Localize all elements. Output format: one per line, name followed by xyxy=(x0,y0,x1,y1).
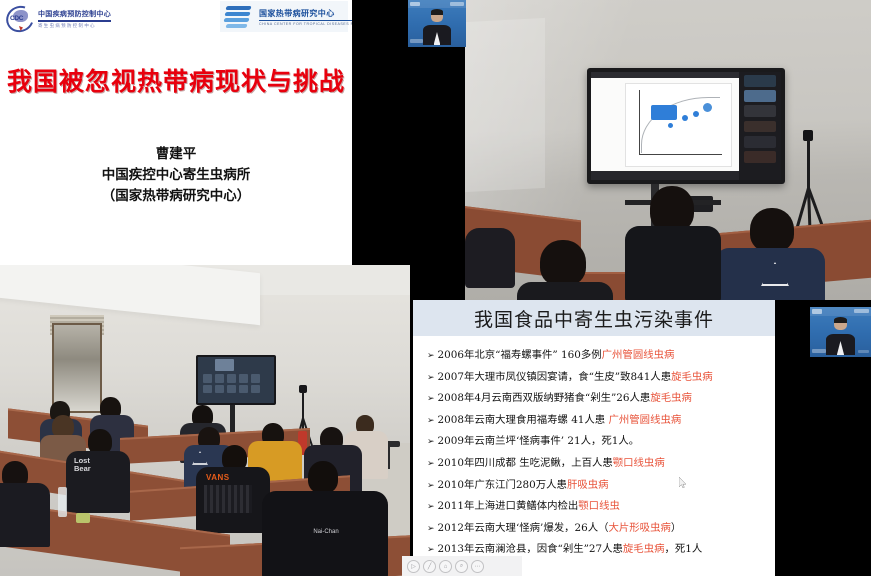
bullet-text: 2008年4月云南西双版纳野猪食“剁生”26人患旋毛虫病 xyxy=(438,388,692,409)
participant-video-top[interactable] xyxy=(408,0,466,47)
presenter-affiliation-2: （国家热带病研究中心） xyxy=(0,186,352,207)
tropical-disease-center-logo: 国家热带病研究中心 CHINA CENTER FOR TROPICAL DISE… xyxy=(220,1,348,32)
bullet-text: 2010年广东江门280万人患肝吸虫病 xyxy=(438,475,609,496)
jacket-text: LostBear xyxy=(74,457,91,473)
plain-text: 2010年广东江门280万人患 xyxy=(438,479,567,491)
highlighted-term: 肝吸虫病 xyxy=(567,479,609,491)
slide-title: 我国被忽视热带病现状与挑战 xyxy=(0,62,352,98)
content-slide: 我国食品中寄生虫污染事件 ➢2006年北京“福寿螺事件” 160多例广州管圆线虫… xyxy=(413,300,775,576)
logo-divider xyxy=(38,20,111,22)
attendee-body xyxy=(625,226,721,300)
displayed-chart xyxy=(625,83,731,167)
classroom-display xyxy=(587,68,785,184)
highlighted-term: 旋毛虫病 xyxy=(623,543,665,555)
participant-video-bottom[interactable] xyxy=(810,307,871,357)
content-bullet-item: ➢2007年大理市凤仪镇因宴请，食“生皮”致841人患旋毛虫病 xyxy=(427,367,775,389)
content-bullet-list: ➢2006年北京“福寿螺事件” 160多例广州管圆线虫病➢2007年大理市凤仪镇… xyxy=(413,336,775,576)
content-bullet-item: ➢2009年云南兰坪‘怪病事件’ 21人，死1人。 xyxy=(427,431,775,453)
plain-text: 2012年云南大理‘怪病’爆发，26人（ xyxy=(438,522,609,534)
classroom-audience-photo: LostBear VANS Nai-Chan xyxy=(0,265,410,576)
content-slide-header: 我国食品中寄生虫污染事件 xyxy=(413,300,775,336)
presenter-name: 曹建平 xyxy=(0,144,352,165)
content-bullet-item: ➢2010年四川成都 生吃泥鳅，上百人患颚口线虫病 xyxy=(427,453,775,475)
attendee-head xyxy=(308,461,338,493)
presenter-affiliation-1: 中国疾控中心寄生虫病所 xyxy=(0,165,352,186)
plain-text: ，死1人 xyxy=(664,543,702,555)
screen-share-stage: CDC 中国疾病预防控制中心 寄生虫病预防控制中心 国家热带病研究中心 CHIN… xyxy=(0,0,871,576)
bullet-arrow-icon: ➢ xyxy=(427,476,435,497)
highlighted-term: 颚口线虫病 xyxy=(613,457,665,469)
content-bullet-item: ➢2008年4月云南西双版纳野猪食“剁生”26人患旋毛虫病 xyxy=(427,388,775,410)
plain-text: ） xyxy=(671,522,681,534)
bullet-arrow-icon: ➢ xyxy=(427,411,435,432)
classroom-display xyxy=(196,355,276,405)
video-name-tag xyxy=(812,349,825,354)
slide-presenter-block: 曹建平 中国疾控中心寄生虫病所 （国家热带病研究中心） xyxy=(0,144,352,207)
video-overlay-logo-right-icon xyxy=(450,2,464,6)
video-overlay-logo-right-icon xyxy=(854,309,869,313)
video-overlay-logo-left-icon xyxy=(410,2,419,6)
cdc-acronym: CDC xyxy=(10,15,23,22)
highlighted-term: 大片形吸虫病 xyxy=(609,522,671,534)
content-bullet-item: ➢2011年上海进口黄鳝体内检出颚口线虫 xyxy=(427,496,775,518)
logo-divider xyxy=(259,20,352,21)
content-slide-title: 我国食品中寄生虫污染事件 xyxy=(474,305,714,332)
plain-text: 2007年大理市凤仪镇因宴请，食“生皮”致841人患 xyxy=(438,371,672,383)
tropical-center-name-cn: 国家热带病研究中心 xyxy=(259,8,352,19)
china-cdc-emblem-icon: CDC xyxy=(6,6,34,32)
content-bullet-item: ➢2006年北京“福寿螺事件” 160多例广州管圆线虫病 xyxy=(427,345,775,367)
bullet-arrow-icon: ➢ xyxy=(427,346,435,367)
bullet-arrow-icon: ➢ xyxy=(427,497,435,518)
china-cdc-name-sub: 寄生虫病预防控制中心 xyxy=(38,23,111,29)
bullet-text: 2009年云南兰坪‘怪病事件’ 21人，死1人。 xyxy=(438,431,640,452)
bullet-arrow-icon: ➢ xyxy=(427,454,435,475)
bullet-arrow-icon: ➢ xyxy=(427,519,435,540)
display-content xyxy=(591,72,781,180)
annotation-toolbar[interactable]: ▷╱⌂⌕⋯ xyxy=(407,559,484,574)
highlighted-term: 旋毛虫病 xyxy=(671,371,713,383)
participant-strip xyxy=(739,72,781,180)
bullet-arrow-icon: ➢ xyxy=(427,432,435,453)
water-bottle xyxy=(58,487,67,517)
tropical-center-name-en: CHINA CENTER FOR TROPICAL DISEASES RESEA… xyxy=(259,22,352,26)
video-status-tag xyxy=(858,350,869,354)
content-bullet-item: ➢2008年云南大理食用福寿螺 41人患 广州管圆线虫病 xyxy=(427,410,775,432)
bullet-arrow-icon: ➢ xyxy=(427,389,435,410)
bullet-text: 2007年大理市凤仪镇因宴请，食“生皮”致841人患旋毛虫病 xyxy=(438,367,713,388)
bullet-text: 2012年云南大理‘怪病’爆发，26人（大片形吸虫病） xyxy=(438,518,682,539)
plain-text: 2008年4月云南西双版纳野猪食“剁生”26人患 xyxy=(438,392,651,404)
title-slide: CDC 中国疾病预防控制中心 寄生虫病预防控制中心 国家热带病研究中心 CHIN… xyxy=(0,0,352,265)
highlighted-term: 旋毛虫病 xyxy=(650,392,692,404)
china-cdc-name-cn: 中国疾病预防控制中心 xyxy=(38,9,111,19)
bullet-text: 2011年上海进口黄鳝体内检出颚口线虫 xyxy=(438,496,620,517)
highlighted-term: 广州管圆线虫病 xyxy=(609,414,682,426)
china-cdc-logo: CDC 中国疾病预防控制中心 寄生虫病预防控制中心 xyxy=(6,4,114,34)
content-bullet-item: ➢2012年云南大理‘怪病’爆发，26人（大片形吸虫病） xyxy=(427,518,775,540)
bullet-text: 2010年四川成都 生吃泥鳅，上百人患颚口线虫病 xyxy=(438,453,665,474)
plain-text: 2013年云南澜沧县，因食“剁生”27人患 xyxy=(438,543,623,555)
highlighted-term: 颚口线虫 xyxy=(578,500,620,512)
cup xyxy=(76,513,90,523)
classroom-window xyxy=(52,323,102,413)
plain-text: 2011年上海进口黄鳝体内检出 xyxy=(438,500,579,512)
highlighted-term: 广州管圆线虫病 xyxy=(602,349,675,361)
plain-text: 2006年北京“福寿螺事件” 160多例 xyxy=(438,349,602,361)
video-name-tag xyxy=(410,39,423,43)
classroom-projection-photo xyxy=(465,0,871,300)
video-overlay-logo-left-icon xyxy=(812,309,822,314)
pen-tool[interactable]: ╱ xyxy=(423,560,436,573)
jacket-text: VANS xyxy=(206,473,230,482)
zoom-tool[interactable]: ⌕ xyxy=(455,560,468,573)
content-bullet-item: ➢2010年广东江门280万人患肝吸虫病 xyxy=(427,475,775,497)
attendee-body xyxy=(0,483,50,547)
tropical-center-emblem-icon xyxy=(224,4,254,30)
stamp-tool[interactable]: ⌂ xyxy=(439,560,452,573)
attendee-silhouette xyxy=(465,228,515,288)
display-content xyxy=(198,357,274,403)
jacket-text: Nai-Chan xyxy=(296,529,356,536)
bullet-text: 2008年云南大理食用福寿螺 41人患 广州管圆线虫病 xyxy=(438,410,682,431)
pointer-tool[interactable]: ▷ xyxy=(407,560,420,573)
plain-text: 2008年云南大理食用福寿螺 41人患 xyxy=(438,414,609,426)
attendee-head xyxy=(540,240,586,286)
bullet-arrow-icon: ➢ xyxy=(427,368,435,389)
plain-text: 2009年云南兰坪‘怪病事件’ 21人，死1人。 xyxy=(438,435,640,447)
more-tools[interactable]: ⋯ xyxy=(471,560,484,573)
attendee-body xyxy=(517,282,613,300)
plain-text: 2010年四川成都 生吃泥鳅，上百人患 xyxy=(438,457,613,469)
bullet-text: 2006年北京“福寿螺事件” 160多例广州管圆线虫病 xyxy=(438,345,675,366)
attendee-head xyxy=(750,208,794,252)
